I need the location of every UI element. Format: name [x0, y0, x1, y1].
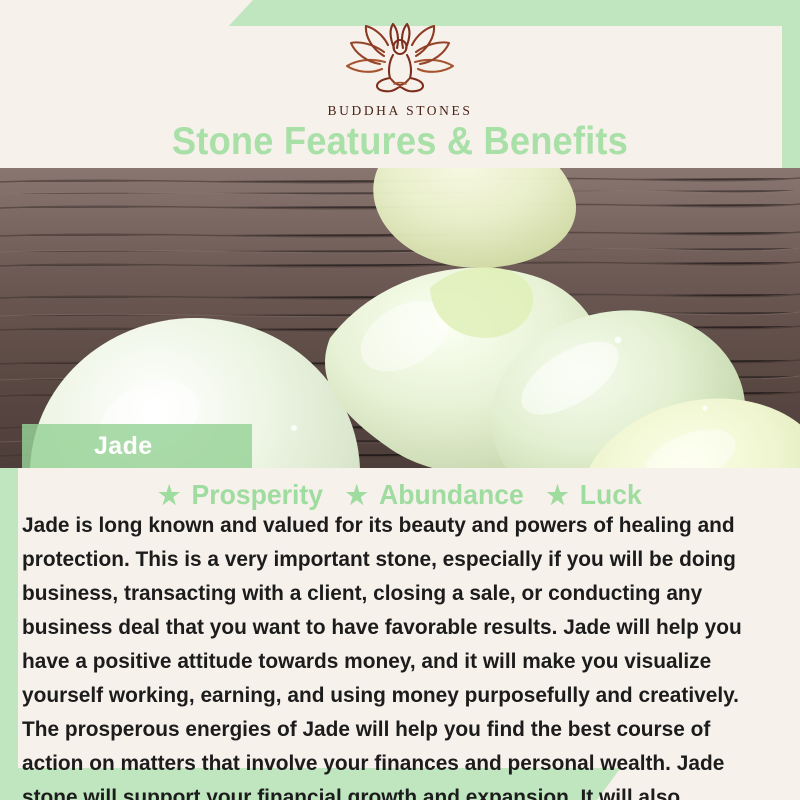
stone-description: Jade is long known and valued for its be… — [22, 508, 765, 800]
benefit-item-prosperity: Prosperity — [191, 479, 323, 510]
photo-illustration — [0, 168, 800, 468]
photo-caption-banner: Jade — [22, 424, 252, 468]
page-title: Stone Features & Benefits — [28, 122, 772, 161]
star-icon: ★ — [546, 480, 568, 510]
jade-stones-photo — [0, 168, 800, 468]
photo-caption-label: Jade — [94, 432, 153, 461]
benefit-item-luck: Luck — [580, 479, 642, 510]
lotus-meditation-figure-icon — [327, 22, 473, 96]
benefits-row: ★ Prosperity ★ Abundance ★ Luck — [20, 479, 780, 511]
poster: BUDDHA STONES Stone Features & Benefits — [0, 0, 800, 800]
benefit-item-abundance: Abundance — [379, 479, 524, 510]
logo: BUDDHA STONES — [327, 22, 473, 119]
star-icon: ★ — [346, 480, 368, 510]
brand-name: BUDDHA STONES — [328, 103, 473, 119]
star-icon: ★ — [158, 480, 180, 510]
